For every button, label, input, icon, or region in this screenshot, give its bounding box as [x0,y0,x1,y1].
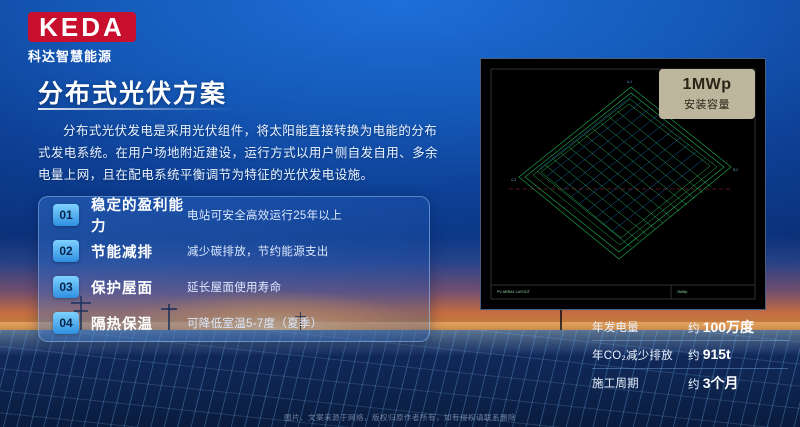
stat-number: 915t [703,346,731,362]
stat-prefix: 约 [688,379,703,391]
stat-number: 3个月 [703,375,739,391]
stat-prefix: 约 [688,350,703,362]
stat-row: 年CO₂减少排放 约 915t [592,341,788,369]
title-underline [38,108,234,110]
stat-label: 年发电量 [592,319,688,335]
feature-description: 电站可安全高效运行25年以上 [187,207,342,223]
intro-paragraph: 分布式光伏发电是采用光伏组件，将太阳能直接转换为电能的分布式发电系统。在用户场地… [38,120,438,186]
footer-disclaimer: 图片、文案来源于网络，版权归原作者所有，如有侵权请联系删除 [0,412,800,423]
intro-text: 分布式光伏发电是采用光伏组件，将太阳能直接转换为电能的分布式发电系统。在用户场地… [38,120,438,186]
brand-logo: KEDA 科达智慧能源 [28,12,178,65]
feature-title: 节能减排 [91,241,187,262]
stat-prefix: 约 [688,323,703,335]
slide-root: KEDA 科达智慧能源 分布式光伏方案 分布式光伏发电是采用光伏组件，将太阳能直… [0,0,800,427]
feature-number-badge: 03 [53,276,79,298]
capacity-caption: 安装容量 [684,96,730,112]
svg-text:1MWp: 1MWp [677,290,687,294]
stat-row: 年发电量 约 100万度 [592,313,788,341]
brand-name: 科达智慧能源 [28,46,178,65]
feature-item: 04 隔热保温 可降低室温5-7度（夏季） [39,305,429,341]
feature-title: 保护屋面 [91,277,187,298]
feature-item: 02 节能减排 减少碳排放，节约能源支出 [39,233,429,269]
stat-value: 约 915t [688,346,731,363]
stat-label: 施工周期 [592,375,688,391]
feature-description: 延长屋面使用寿命 [187,279,281,295]
page-title: 分布式光伏方案 [38,74,227,110]
stat-row: 施工周期 约 3个月 [592,369,788,396]
stat-label: 年CO₂减少排放 [592,347,688,363]
stats-list: 年发电量 约 100万度 年CO₂减少排放 约 915t 施工周期 约 3个月 [592,313,788,396]
capacity-value: 1MWp [682,76,731,94]
feature-description: 减少碳排放，节约能源支出 [187,243,329,259]
feature-item: 03 保护屋面 延长屋面使用寿命 [39,269,429,305]
feature-item: 01 稳定的盈利能力 电站可安全高效运行25年以上 [39,197,429,233]
stat-number: 100万度 [703,319,754,335]
svg-text:B-2: B-2 [733,168,738,172]
stat-value: 约 3个月 [688,373,739,393]
cad-drawing: PV ARRAY LAYOUT 1MWp A-1 B-2 C-3 1MWp 安装… [480,58,766,310]
svg-text:A-1: A-1 [627,80,632,84]
capacity-badge: 1MWp 安装容量 [659,69,755,119]
feature-number-badge: 01 [53,204,79,226]
feature-panel: 01 稳定的盈利能力 电站可安全高效运行25年以上 02 节能减排 减少碳排放，… [38,196,430,342]
feature-number-badge: 04 [53,312,79,334]
brand-mark: KEDA [28,12,136,42]
svg-text:PV ARRAY LAYOUT: PV ARRAY LAYOUT [497,290,531,294]
svg-text:C-3: C-3 [511,178,516,182]
feature-title: 隔热保温 [91,313,187,334]
feature-description: 可降低室温5-7度（夏季） [187,315,323,331]
feature-title: 稳定的盈利能力 [91,194,187,236]
stat-value: 约 100万度 [688,317,754,337]
feature-number-badge: 02 [53,240,79,262]
